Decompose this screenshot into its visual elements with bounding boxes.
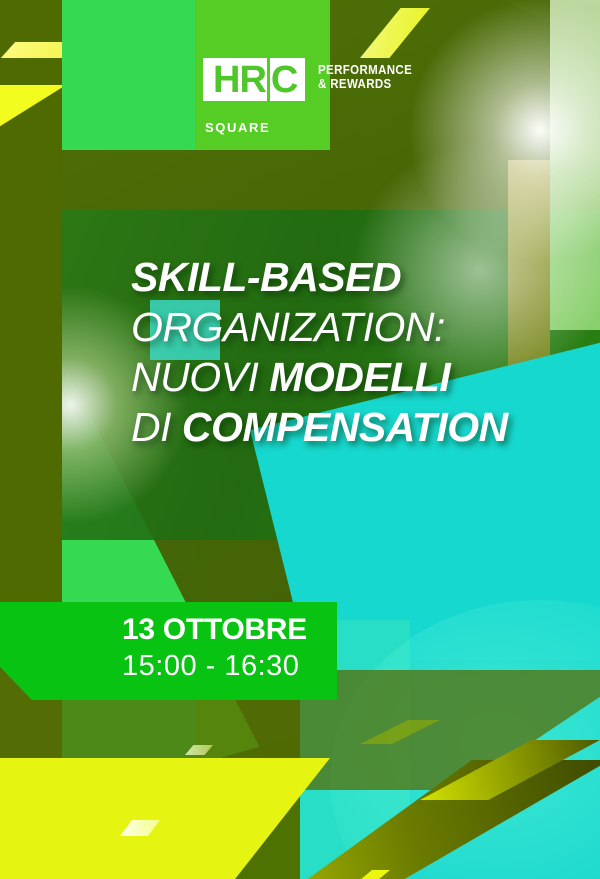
hrc-logo-mark: HRC [203,58,305,101]
poster-content: HRC PERFORMANCE & REWARDS SQUARE SKILL-B… [0,0,600,879]
headline-line-3-light: NUOVI [131,354,269,400]
headline-line-2: ORGANIZATION: [131,302,561,352]
brand-tagline-line-1: PERFORMANCE [318,63,412,77]
hrc-logo-divider [267,58,270,101]
headline-line-4: DI COMPENSATION [131,402,561,452]
hrc-logo-text: HRC [213,58,297,101]
page-title: SKILL-BASED ORGANIZATION: NUOVI MODELLI … [131,252,561,452]
headline-line-3-bold: MODELLI [269,354,450,400]
brand-tagline-line-2: & REWARDS [318,77,412,91]
headline-line-1: SKILL-BASED [131,252,561,302]
event-time: 15:00 - 16:30 [122,648,352,684]
event-date-text: 13 OTTOBRE 15:00 - 16:30 [122,612,352,684]
brand-lockup: HRC PERFORMANCE & REWARDS [203,58,421,101]
event-poster: HRC PERFORMANCE & REWARDS SQUARE SKILL-B… [0,0,600,879]
brand-tagline: PERFORMANCE & REWARDS [318,63,412,91]
hrc-logo-subtext: SQUARE [205,120,270,135]
event-date: 13 OTTOBRE [122,612,352,648]
headline-line-3: NUOVI MODELLI [131,352,561,402]
headline-line-4-bold: COMPENSATION [182,404,508,450]
headline-line-4-light: DI [131,404,182,450]
